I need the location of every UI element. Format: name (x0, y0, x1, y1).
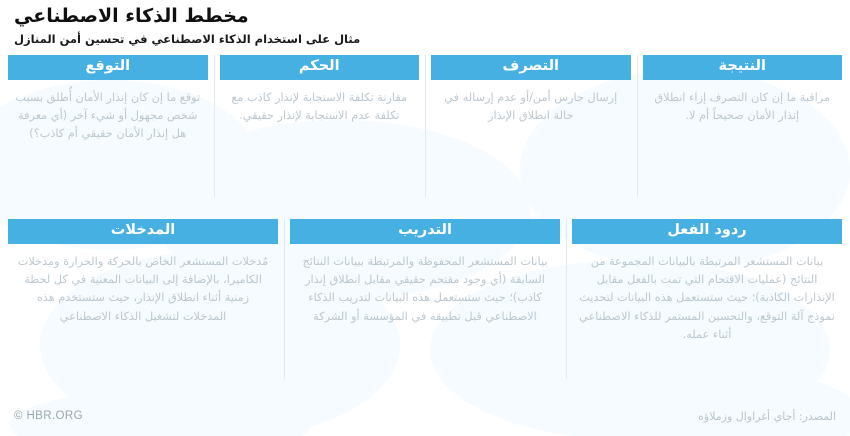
card-body-text: إرسال حارس أمن/أو عدم إرساله في حالة انط… (431, 80, 631, 197)
card-heading: ردود الفعل (572, 219, 842, 244)
canvas-row-bottom: ردود الفعل بيانات المستشعر المرتبطة بالب… (8, 219, 842, 379)
card-heading: التدريب (290, 219, 560, 244)
card-training: التدريب بيانات المستشعر المحفوظة والمرتب… (284, 219, 560, 379)
card-body-text: بيانات المستشعر المحفوظة والمرتبطة ببيان… (290, 244, 560, 379)
diagram-header: مخطط الذكاء الاصطناعي مثال على استخدام ا… (8, 0, 842, 46)
diagram-footer: © HBR.ORG المصدر: أجاي أغراوال وزملاؤه (0, 406, 850, 426)
card-heading: التوقع (8, 55, 208, 80)
card-heading: التصرف (431, 55, 631, 80)
card-action: التصرف إرسال حارس أمن/أو عدم إرساله في ح… (425, 55, 631, 197)
card-input: المدخلات مُدخلات المستشعر الخاص بالحركة … (8, 219, 278, 379)
card-outcome: النتيجة مراقبة ما إن كان التصرف إزاء انط… (637, 55, 843, 197)
card-body-text: مُدخلات المستشعر الخاص بالحركة والحرارة … (8, 244, 278, 379)
card-heading: المدخلات (8, 219, 278, 244)
hbr-credit: © HBR.ORG (14, 410, 83, 422)
card-prediction: التوقع توقع ما إن كان إنذار الأمان أُطلق… (8, 55, 208, 197)
card-feedback: ردود الفعل بيانات المستشعر المرتبطة بالب… (566, 219, 842, 379)
source-attribution: المصدر: أجاي أغراوال وزملاؤه (698, 410, 836, 423)
card-body-text: مراقبة ما إن كان التصرف إزاء انطلاق إنذا… (643, 80, 843, 197)
card-heading: النتيجة (643, 55, 843, 80)
ai-canvas-diagram: مخطط الذكاء الاصطناعي مثال على استخدام ا… (0, 0, 850, 436)
card-body-text: مقارنة تكلفة الاستجابة لإنذار كاذب مع تك… (220, 80, 420, 197)
card-judgment: الحكم مقارنة تكلفة الاستجابة لإنذار كاذب… (214, 55, 420, 197)
canvas-row-top: النتيجة مراقبة ما إن كان التصرف إزاء انط… (8, 55, 842, 197)
card-body-text: توقع ما إن كان إنذار الأمان أُطلق بسبب ش… (8, 80, 208, 197)
card-body-text: بيانات المستشعر المرتبطة بالبيانات المجم… (572, 244, 842, 379)
page-title: مخطط الذكاء الاصطناعي (14, 6, 836, 28)
page-subtitle: مثال على استخدام الذكاء الاصطناعي في تحس… (14, 32, 836, 46)
card-heading: الحكم (220, 55, 420, 80)
